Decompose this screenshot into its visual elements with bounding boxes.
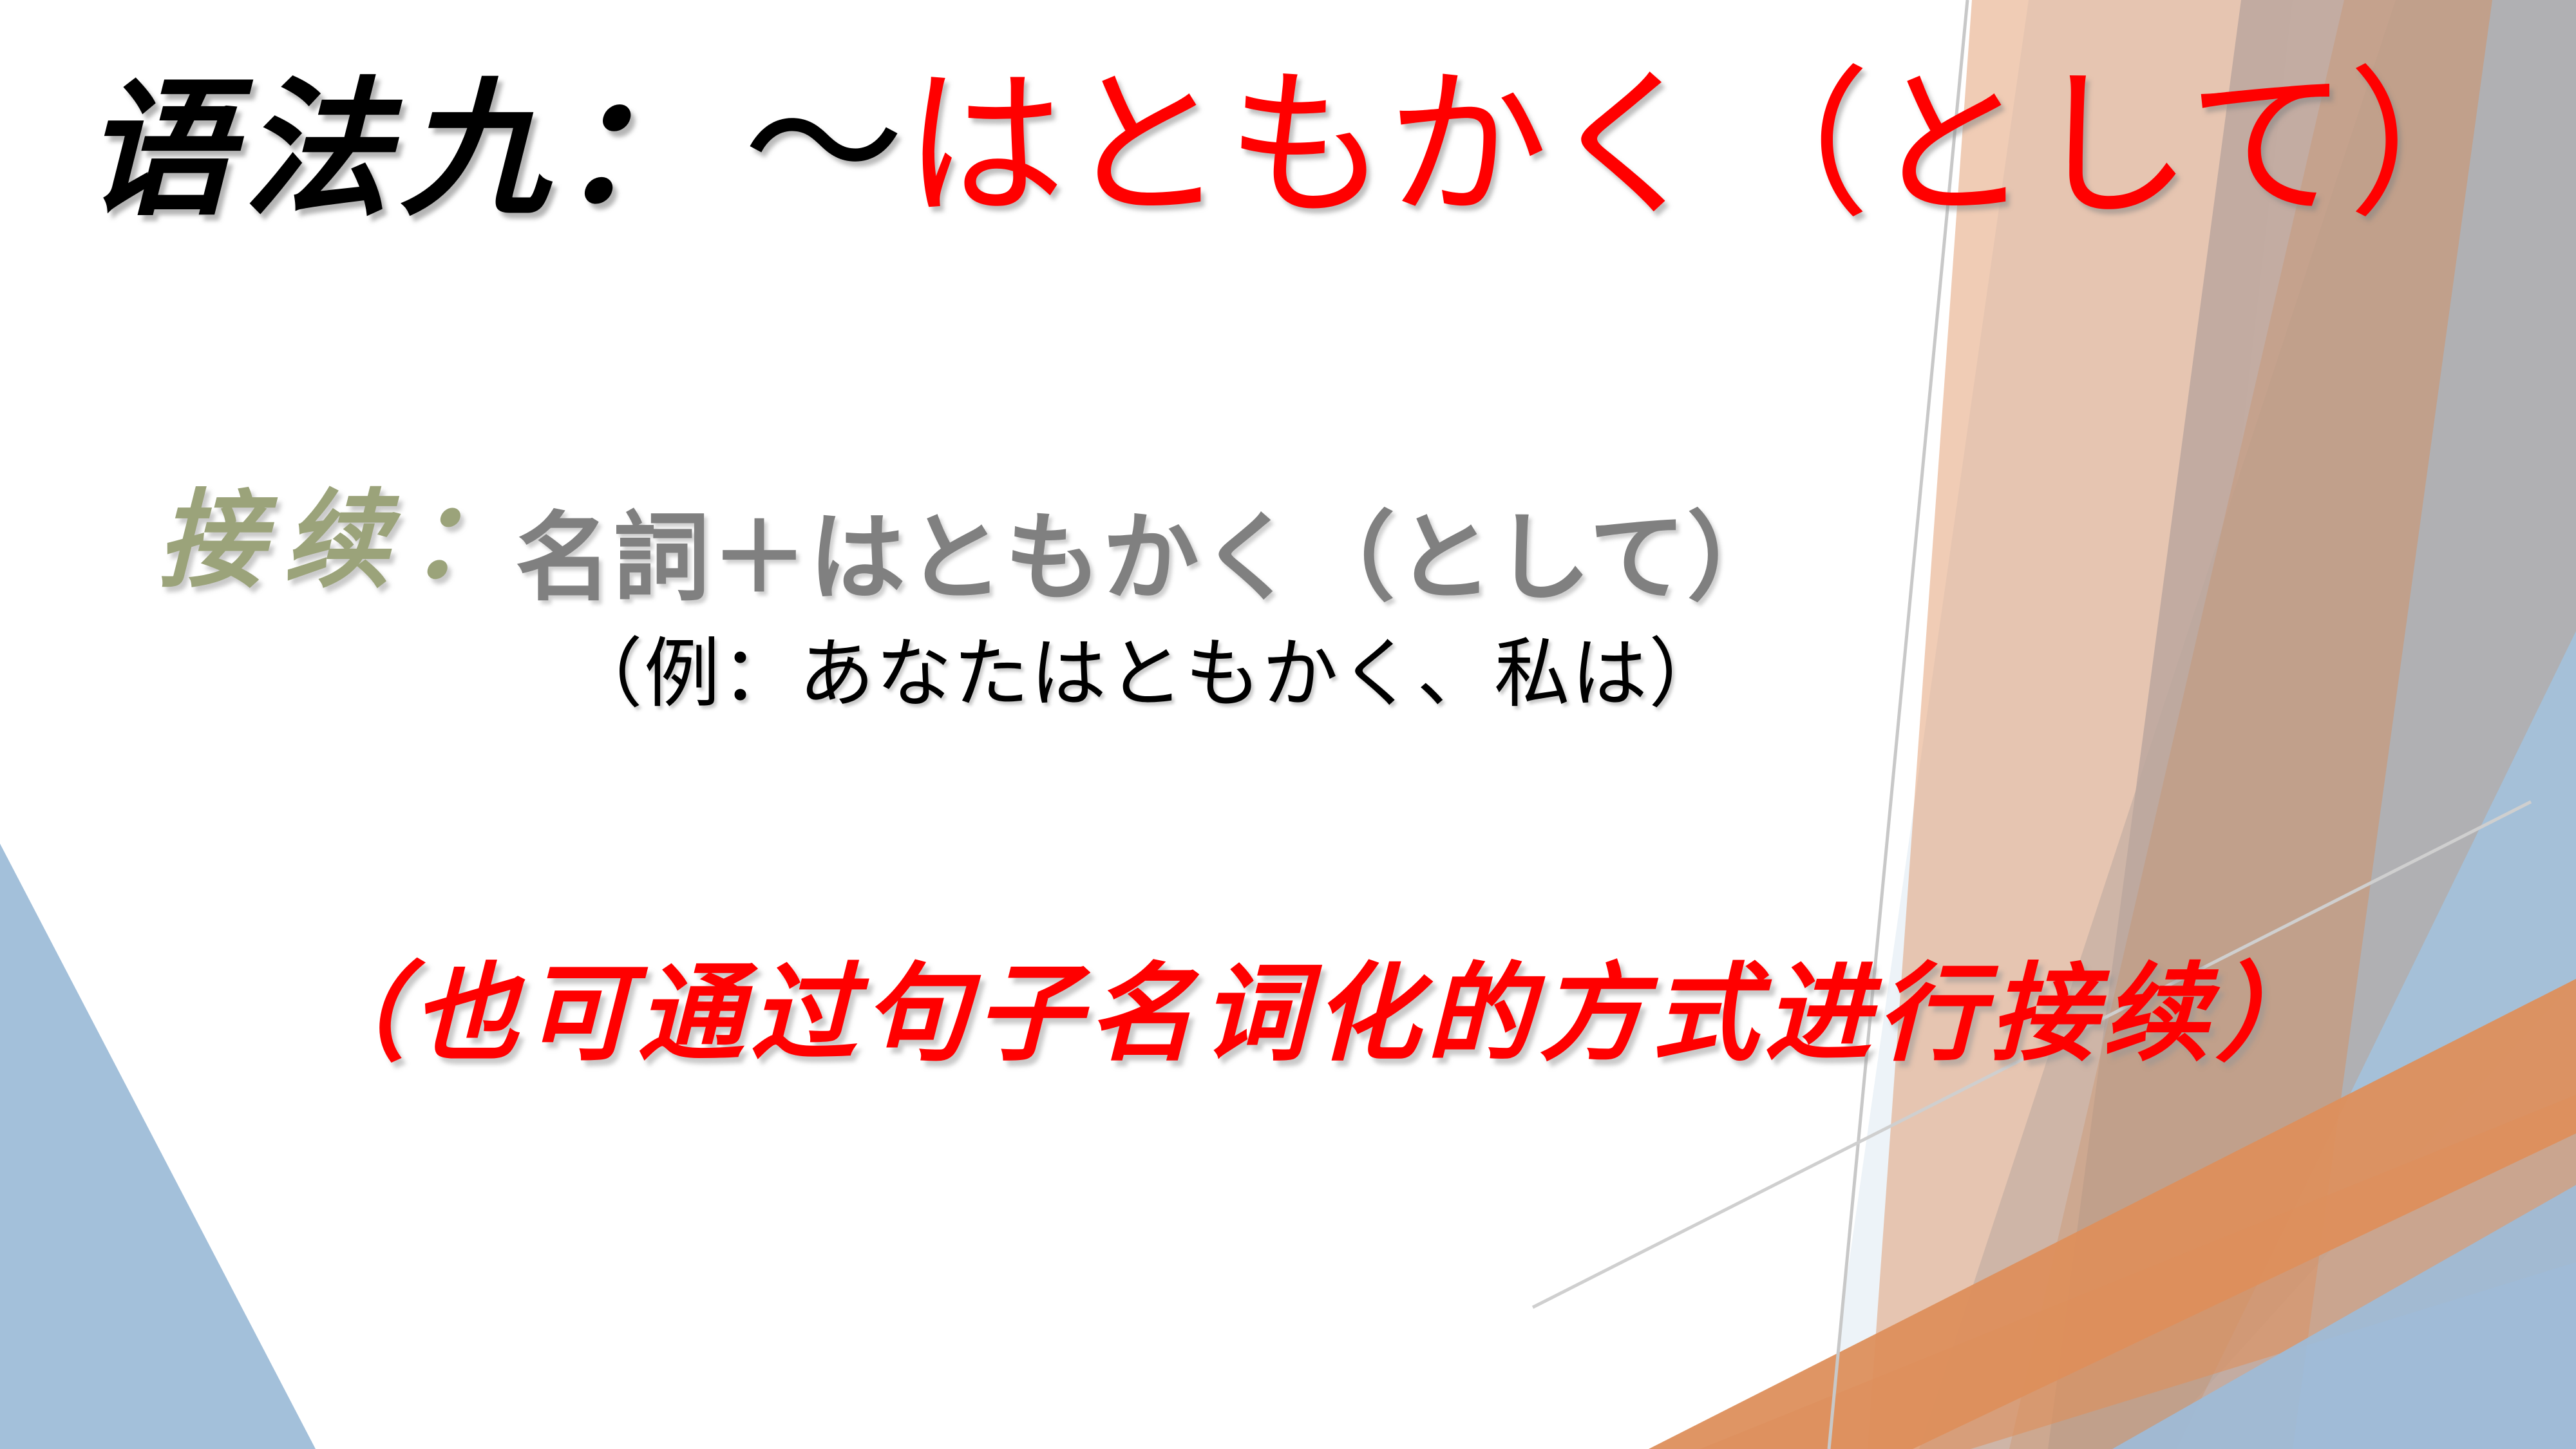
decor-blue-wedge-bottom-left [0, 844, 316, 1449]
title-tilde-mark: 〜 [717, 55, 904, 235]
decor-blue-gray-foreground [2112, 1185, 2576, 1449]
slide-canvas: 语法九：〜はともかく（として） 接续： 名詞＋はともかく（として） （例：あなた… [0, 0, 2576, 1449]
supplementary-note: （也可通过句子名词化的方式进行接续） [299, 927, 2328, 1081]
decor-orange-band-lower [1700, 1095, 2576, 1449]
connection-label: 接续： [158, 454, 535, 608]
title-chinese-label: 语法九： [84, 62, 717, 236]
page-title: 语法九：〜はともかく（として） [84, 61, 2510, 231]
connection-example: （例：あなたはともかく、私は） [567, 612, 1726, 722]
title-japanese-pattern: はともかく（として） [904, 55, 2510, 235]
connection-formula: 名詞＋はともかく（として） [515, 480, 1785, 620]
